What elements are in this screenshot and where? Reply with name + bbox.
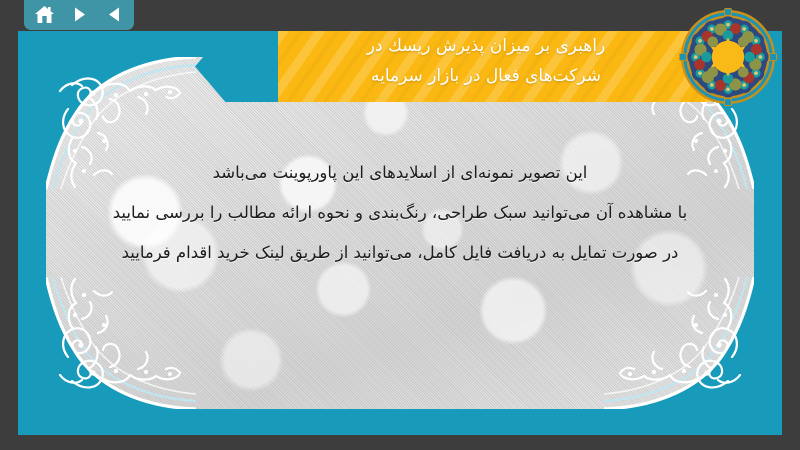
next-slide-button[interactable] — [66, 3, 92, 27]
arabesque-corner-ornament-icon — [604, 277, 754, 409]
slide-content-area: این تصویر نمونه‌ای از اسلایدهای این پاور… — [46, 57, 754, 409]
slide-frame: این تصویر نمونه‌ای از اسلایدهای این پاور… — [18, 31, 782, 435]
triangle-right-icon — [71, 6, 88, 23]
slide-viewer: این تصویر نمونه‌ای از اسلایدهای این پاور… — [0, 0, 800, 450]
slide-body-text: این تصویر نمونه‌ای از اسلایدهای این پاور… — [46, 153, 754, 273]
triangle-left-icon — [106, 6, 123, 23]
previous-slide-button[interactable] — [101, 3, 127, 27]
islamic-medallion-ornament-icon — [679, 8, 777, 106]
arabesque-corner-ornament-icon — [46, 277, 196, 409]
body-line-3: در صورت تمایل به دریافت فایل کامل، می‌تو… — [46, 233, 754, 273]
home-button[interactable] — [31, 3, 57, 27]
body-line-1: این تصویر نمونه‌ای از اسلایدهای این پاور… — [46, 153, 754, 193]
home-icon — [34, 5, 55, 24]
slide-navigation-bar — [24, 0, 134, 30]
body-line-2: با مشاهده آن می‌توانید سبک طراحی، رنگ‌بن… — [46, 193, 754, 233]
